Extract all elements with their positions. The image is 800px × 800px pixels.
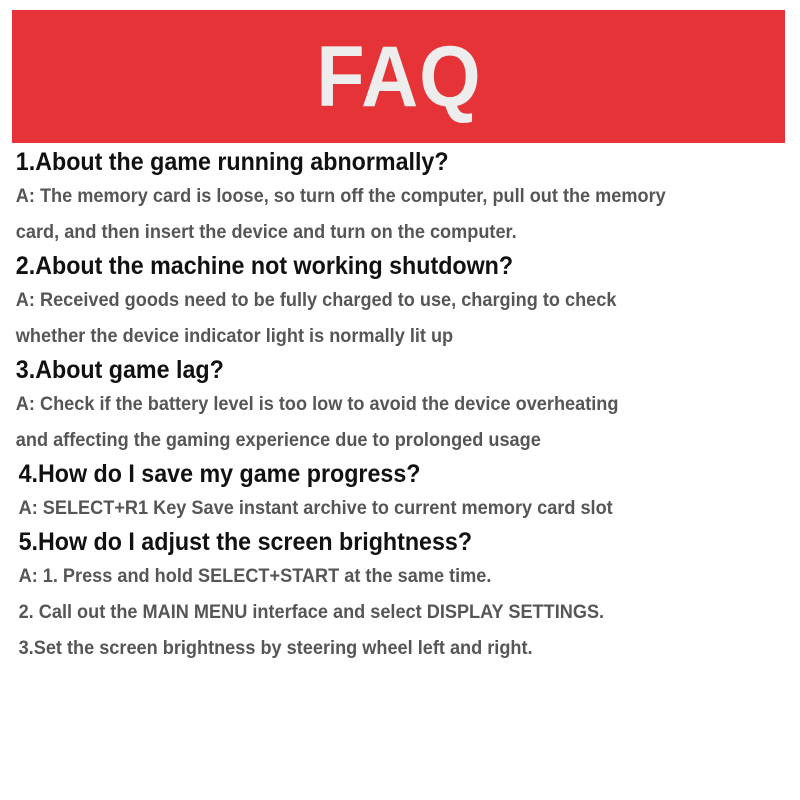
faq-question-3: 3.About game lag?: [0, 354, 744, 386]
faq-answer-5-step-1: A: 1. Press and hold SELECT+START at the…: [0, 558, 744, 594]
faq-list: 1.About the game running abnormally? A: …: [0, 146, 800, 666]
faq-answer-5-step-3: 3.Set the screen brightness by steering …: [0, 630, 744, 666]
faq-question-2: 2.About the machine not working shutdown…: [0, 250, 744, 282]
faq-page: FAQ 1.About the game running abnormally?…: [0, 0, 800, 800]
faq-answer-3-line-2: and affecting the gaming experience due …: [0, 422, 744, 458]
faq-item-1: 1.About the game running abnormally? A: …: [0, 146, 800, 250]
faq-item-4: 4.How do I save my game progress? A: SEL…: [0, 458, 800, 526]
faq-item-2: 2.About the machine not working shutdown…: [0, 250, 800, 354]
faq-question-1: 1.About the game running abnormally?: [0, 146, 744, 178]
faq-answer-2-line-1: A: Received goods need to be fully charg…: [0, 282, 744, 318]
faq-item-5: 5.How do I adjust the screen brightness?…: [0, 526, 800, 666]
faq-answer-1-line-2: card, and then insert the device and tur…: [0, 214, 744, 250]
faq-answer-2-line-2: whether the device indicator light is no…: [0, 318, 744, 354]
faq-item-3: 3.About game lag? A: Check if the batter…: [0, 354, 800, 458]
faq-banner: FAQ: [12, 10, 785, 143]
faq-answer-1-line-1: A: The memory card is loose, so turn off…: [0, 178, 744, 214]
faq-question-5: 5.How do I adjust the screen brightness?: [0, 526, 744, 558]
faq-question-4: 4.How do I save my game progress?: [0, 458, 744, 490]
page-title: FAQ: [316, 34, 481, 120]
faq-answer-5-step-2: 2. Call out the MAIN MENU interface and …: [0, 594, 744, 630]
faq-answer-4-line-1: A: SELECT+R1 Key Save instant archive to…: [0, 490, 744, 526]
faq-answer-3-line-1: A: Check if the battery level is too low…: [0, 386, 744, 422]
